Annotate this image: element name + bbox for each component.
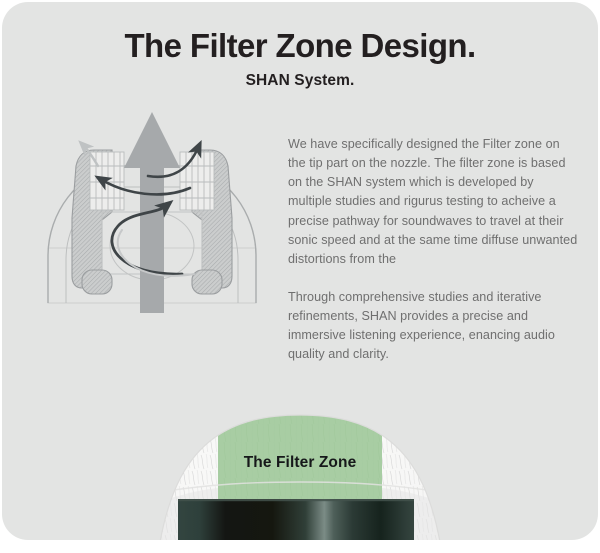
page-subtitle: SHAN System. <box>2 64 598 90</box>
nozzle-cylinder <box>178 499 414 540</box>
filter-zone-band <box>218 406 382 506</box>
filter-mesh-right <box>180 152 214 210</box>
eartip-product-photo <box>2 406 598 540</box>
body-copy: We have specifically designed the Filter… <box>288 135 580 365</box>
nozzle-cross-section-diagram <box>26 108 278 313</box>
header: The Filter Zone Design. SHAN System. <box>2 2 598 90</box>
diagram-svg <box>26 108 278 313</box>
page-title: The Filter Zone Design. <box>2 2 598 64</box>
paragraph-1: We have specifically designed the Filter… <box>288 135 580 269</box>
paragraph-2: Through comprehensive studies and iterat… <box>288 288 580 365</box>
product-photo-svg <box>2 406 598 540</box>
content-card: The Filter Zone Design. SHAN System. <box>2 2 598 540</box>
